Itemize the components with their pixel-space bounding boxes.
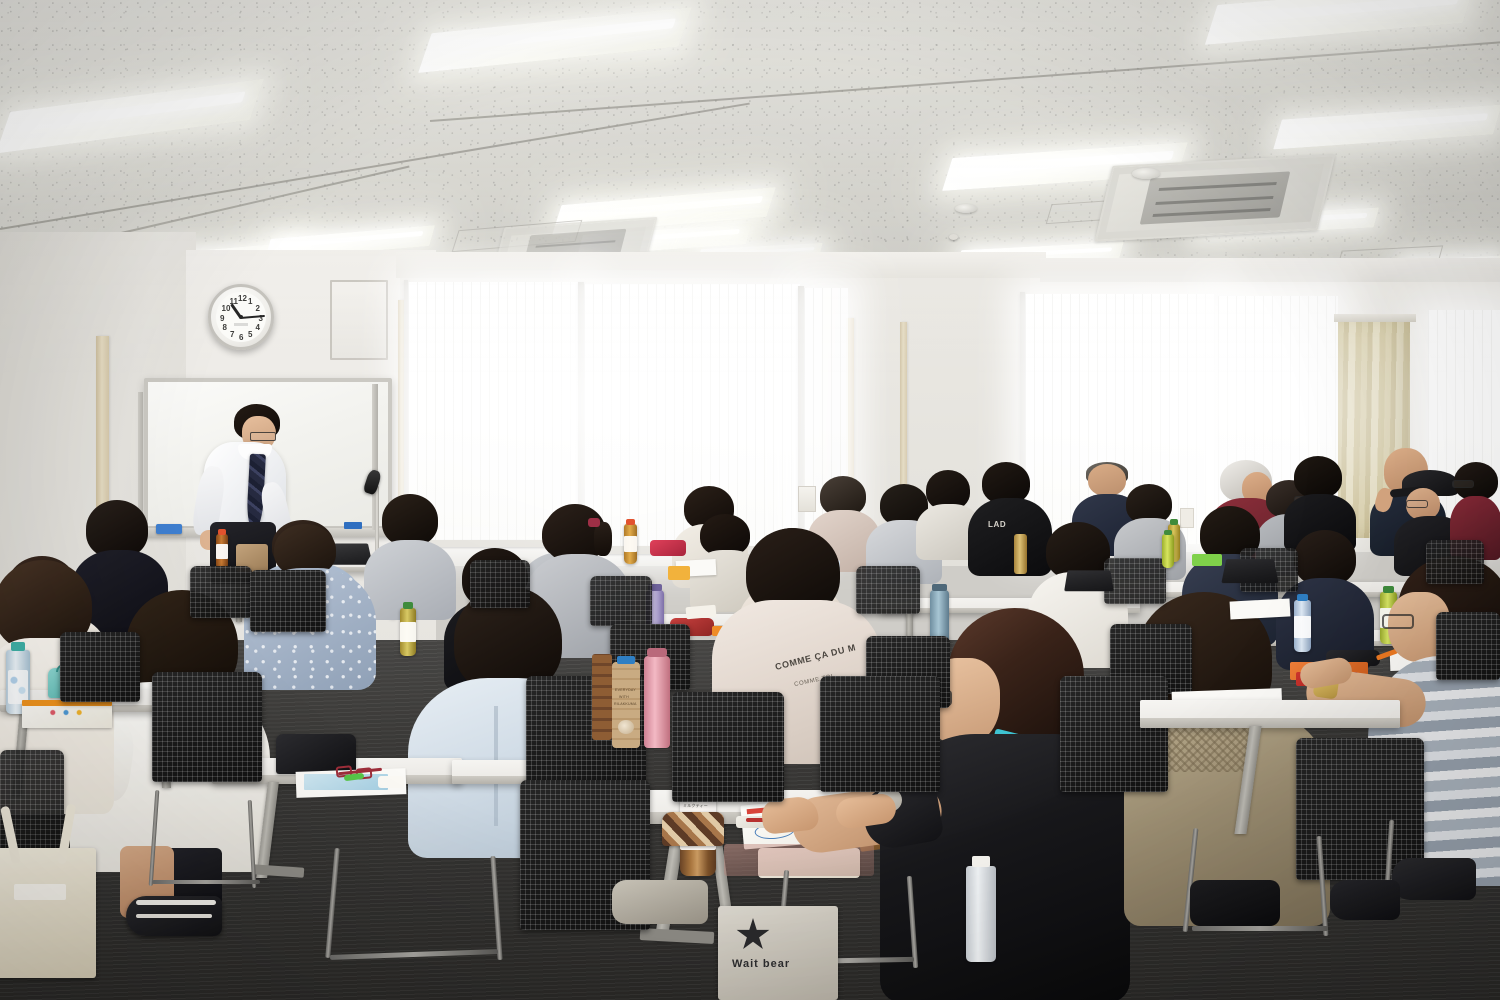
orange-card [668,566,690,580]
clock-center-pin [239,315,243,319]
pencil-case-red [650,540,686,556]
eraser-white [378,776,404,788]
towel-mat [724,844,874,876]
window-soffit [396,252,1046,278]
chair-sled [1192,926,1328,931]
classroom-photo: 12 1 2 3 4 5 6 7 8 9 10 11 [0,0,1500,1000]
smoke-detector-icon [955,204,977,213]
chair[interactable] [1060,676,1168,792]
shoe-stripe [136,900,216,905]
laptop[interactable] [1064,570,1114,591]
shoe-stripe [136,914,212,918]
thermos-cap [647,648,667,657]
tote-text: Wait bear [732,958,790,970]
laptop[interactable] [1221,559,1278,583]
chair[interactable] [152,672,262,782]
window-soffit [1040,258,1500,282]
chair-sled [152,880,260,884]
tea-bottle [1014,534,1027,574]
wall-clock: 12 1 2 3 4 5 6 7 8 9 10 11 [208,284,274,350]
tote-bag-cream[interactable] [0,848,96,978]
chair[interactable] [470,560,530,608]
clock-brand [234,323,248,326]
chair[interactable] [190,566,252,618]
shoe [1392,858,1476,900]
ponytail [594,522,612,556]
bear-face [618,720,634,734]
glasses-icon [250,432,276,441]
bag-on-floor [1190,880,1280,926]
curtain-rail [1334,314,1416,322]
bottle-cap [617,656,635,664]
chair[interactable] [590,576,652,626]
clock-numeral: 7 [230,331,234,339]
bottle-label [8,670,28,704]
smoke-detector-icon [1132,168,1160,179]
sprinkler-icon [949,234,958,240]
clock-numeral: 6 [239,334,243,342]
wood-trim [900,322,907,507]
hair [382,494,438,546]
chair[interactable] [672,692,784,802]
glasses-icon [1406,500,1428,508]
pencil-case-brown [662,812,724,846]
chair[interactable] [60,632,140,702]
glasses-icon [1452,480,1474,488]
tote-bag-print[interactable]: Wait bear [718,906,838,1000]
chair[interactable] [856,566,920,614]
pink-thermos [644,656,670,748]
tote-label [14,884,66,900]
chair[interactable] [1436,612,1500,680]
chair[interactable] [1426,540,1484,584]
clock-numeral: 2 [256,305,260,313]
green-item [1192,554,1222,566]
star-icon [736,918,770,952]
chair[interactable] [1104,558,1166,604]
shoe [1330,880,1400,920]
hair-tie [588,518,600,527]
glasses-icon [1382,614,1414,629]
orange-tea-bottle [216,534,228,570]
bottle-cozy-rilakkuma: EVERYDAY WITH RILAKKUMA [612,662,640,748]
clock-numeral: 8 [223,324,227,332]
clock-numeral: 1 [248,298,252,306]
bag-strap [592,654,612,740]
shoe [612,880,708,924]
clock-numeral: 9 [220,315,224,323]
chair[interactable] [250,570,326,632]
water-bottle [966,866,996,962]
clock-numeral: 12 [238,295,247,303]
paper-sheet [1230,598,1291,619]
table-row [1140,700,1400,728]
hair [1294,456,1342,498]
ac-vent-icon [1095,154,1336,241]
clock-numeral: 4 [256,324,260,332]
green-tea-bottle [1162,534,1174,568]
book-illustration [44,708,88,717]
clock-numeral: 5 [248,331,252,339]
clock-numeral: 10 [222,305,231,313]
door-frame [330,280,388,360]
chair[interactable] [820,676,940,792]
tshirt-text: LAD [988,520,1006,529]
